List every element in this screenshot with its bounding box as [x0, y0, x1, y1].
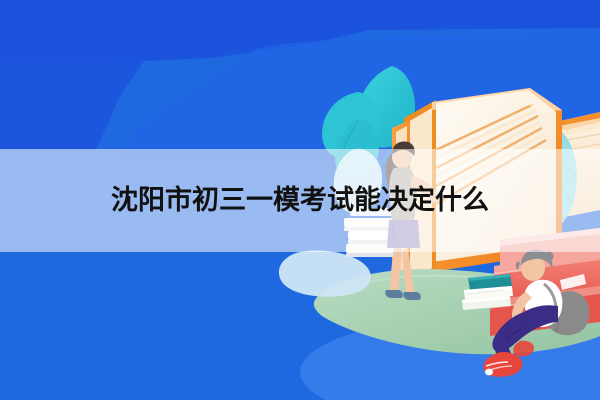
title-overlay-band — [0, 149, 600, 252]
pale-blue-puddle — [279, 251, 371, 297]
book-stack-teal — [462, 274, 513, 310]
article-cover-card: 沈阳市初三一模考试能决定什么 — [0, 0, 600, 400]
